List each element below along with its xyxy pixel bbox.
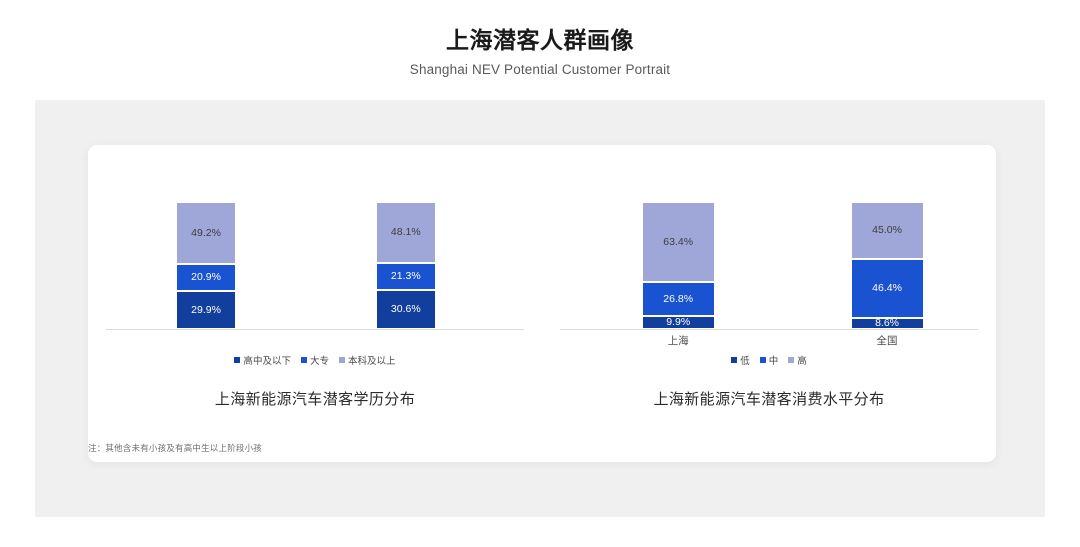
chart-1-plot-area: 49.2% 20.9% 29.9% 48.1% 21.3% 30.6% [88,185,542,330]
chart-2-legend-item-3[interactable]: 高 [788,353,807,367]
chart-2-bar-1-segment-middle: 26.8% [642,282,715,316]
chart-2-category-label-1: 上海 [668,333,689,348]
chart-2-caption: 上海新能源汽车潜客消费水平分布 [542,388,996,409]
footnote: 注：其他含未有小孩及有高中生以上阶段小孩 [88,442,262,454]
chart-1-legend-item-3[interactable]: 本科及以上 [339,353,396,367]
chart-1-legend-item-1[interactable]: 高中及以下 [234,353,291,367]
chart-2-legend-label-3: 高 [797,353,807,367]
chart-1-legend-label-3: 本科及以上 [348,353,396,367]
chart-2-legend-label-2: 中 [769,353,779,367]
chart-2-legend-item-1[interactable]: 低 [731,353,750,367]
chart-1-legend-item-2[interactable]: 大专 [301,353,329,367]
page-header: 上海潜客人群画像 Shanghai NEV Potential Customer… [0,0,1080,77]
page-subtitle: Shanghai NEV Potential Customer Portrait [0,55,1080,77]
chart-1-bar-1-segment-middle: 20.9% [176,264,236,291]
chart-1-bar-2[interactable]: 48.1% 21.3% 30.6% [376,202,436,329]
legend-swatch-dark-icon [731,357,737,363]
legend-swatch-mid-icon [760,357,766,363]
chart-2-plot-area: 63.4% 26.8% 9.9% 45.0% 46.4% 8.6% [542,185,996,330]
page-title: 上海潜客人群画像 [0,0,1080,55]
chart-1-bar-2-segment-middle: 21.3% [376,263,436,290]
chart-2-legend: 低 中 高 [542,353,996,367]
chart-2-bar-1-segment-bottom: 9.9% [642,316,715,329]
chart-2-bar-1-segment-top: 63.4% [642,202,715,282]
chart-1-legend: 高中及以下 大专 本科及以上 [88,353,542,367]
chart-1-legend-label-2: 大专 [310,353,329,367]
chart-2-legend-label-1: 低 [740,353,750,367]
chart-1-axis-line [106,329,524,330]
charts-container: 49.2% 20.9% 29.9% 48.1% 21.3% 30.6% 高中及以… [88,145,996,462]
legend-swatch-light-icon [788,357,794,363]
chart-2-bar-2-segment-bottom: 8.6% [851,318,924,329]
chart-1-category-labels [88,333,542,349]
chart-1-bar-2-segment-bottom: 30.6% [376,290,436,329]
chart-1-bar-1-segment-top: 49.2% [176,202,236,264]
chart-2-category-labels: 上海 全国 [542,333,996,349]
chart-1-bar-1[interactable]: 49.2% 20.9% 29.9% [176,202,236,329]
chart-2-category-label-2: 全国 [877,333,898,348]
chart-2-bar-1[interactable]: 63.4% 26.8% 9.9% [642,202,715,329]
chart-education-distribution: 49.2% 20.9% 29.9% 48.1% 21.3% 30.6% 高中及以… [88,145,542,462]
legend-swatch-dark-icon [234,357,240,363]
chart-2-bar-2-segment-top: 45.0% [851,202,924,259]
chart-2-axis-line [560,329,978,330]
legend-swatch-mid-icon [301,357,307,363]
chart-2-bar-2-segment-middle: 46.4% [851,259,924,318]
chart-1-caption: 上海新能源汽车潜客学历分布 [88,388,542,409]
chart-2-legend-item-2[interactable]: 中 [760,353,779,367]
chart-1-bar-1-segment-bottom: 29.9% [176,291,236,329]
chart-2-bar-2[interactable]: 45.0% 46.4% 8.6% [851,202,924,329]
chart-1-legend-label-1: 高中及以下 [243,353,291,367]
chart-consumption-distribution: 63.4% 26.8% 9.9% 45.0% 46.4% 8.6% 上海 全国 … [542,145,996,462]
legend-swatch-light-icon [339,357,345,363]
chart-1-bar-2-segment-top: 48.1% [376,202,436,263]
